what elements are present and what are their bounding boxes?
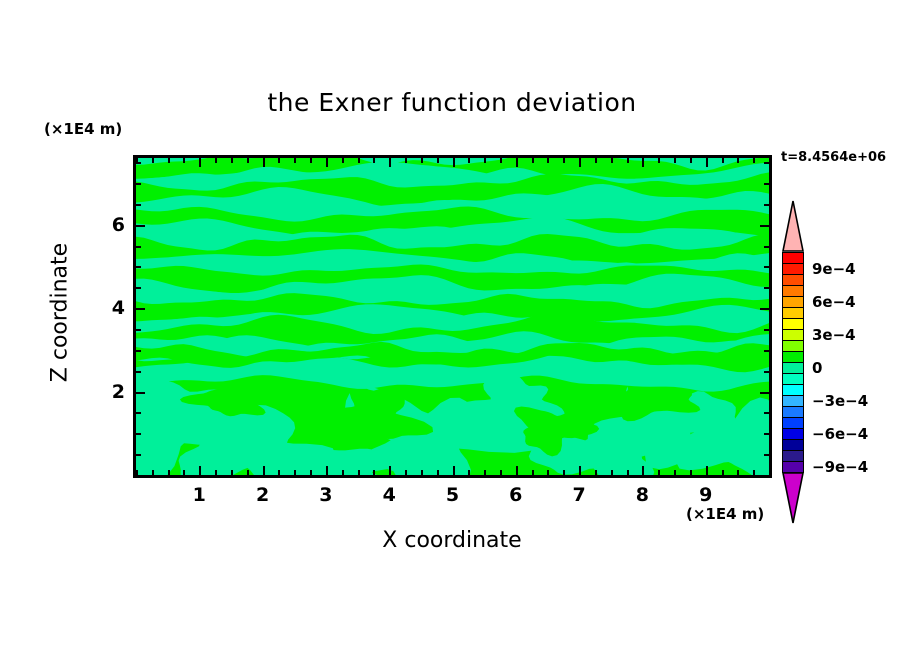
x-axis-units-label: (×1E4 m) — [686, 505, 764, 523]
colorbar[interactable] — [782, 252, 804, 472]
colorbar-tick-label: 9e−4 — [812, 260, 856, 278]
axis-tick — [760, 392, 769, 394]
x-tick-label: 9 — [699, 484, 712, 506]
axis-tick — [516, 158, 518, 167]
axis-tick — [136, 329, 141, 331]
axis-tick — [764, 162, 769, 164]
axis-tick — [136, 475, 141, 477]
x-tick-label: 8 — [636, 484, 649, 506]
axis-tick — [263, 466, 265, 475]
x-tick-label: 1 — [193, 484, 206, 506]
axis-tick — [278, 470, 280, 475]
axis-tick — [627, 158, 629, 163]
axis-tick — [136, 246, 141, 248]
axis-tick — [136, 266, 141, 268]
axis-tick — [437, 470, 439, 475]
colorbar-low-cap — [782, 472, 804, 524]
axis-tick — [722, 470, 724, 475]
axis-tick — [168, 470, 170, 475]
axis-tick — [136, 371, 141, 373]
axis-tick — [136, 225, 145, 227]
axis-tick — [342, 470, 344, 475]
axis-tick — [764, 329, 769, 331]
axis-tick — [642, 158, 644, 167]
axis-tick — [595, 470, 597, 475]
colorbar-tick-label: 0 — [812, 359, 822, 377]
axis-tick — [764, 183, 769, 185]
axis-tick — [231, 470, 233, 475]
axis-tick — [753, 158, 755, 163]
axis-tick — [136, 454, 141, 456]
axis-tick — [468, 158, 470, 163]
axis-tick — [764, 350, 769, 352]
axis-tick — [764, 246, 769, 248]
axis-tick — [183, 158, 185, 163]
axis-tick — [168, 158, 170, 163]
axis-tick — [342, 158, 344, 163]
x-tick-label: 3 — [319, 484, 332, 506]
axis-tick — [136, 183, 141, 185]
axis-tick — [563, 158, 565, 163]
axis-tick — [199, 158, 201, 167]
axis-tick — [722, 158, 724, 163]
axis-tick — [215, 158, 217, 163]
axis-tick — [389, 158, 391, 167]
axis-tick — [136, 412, 141, 414]
y-tick-label: 4 — [103, 297, 125, 319]
axis-tick — [764, 433, 769, 435]
axis-tick — [231, 158, 233, 163]
axis-tick — [294, 158, 296, 163]
axis-tick — [760, 225, 769, 227]
axis-tick — [484, 158, 486, 163]
axis-tick — [358, 470, 360, 475]
axis-tick — [706, 466, 708, 475]
x-tick-label: 2 — [256, 484, 269, 506]
y-axis-title: Z coordinate — [48, 213, 73, 413]
x-axis-title: X coordinate — [0, 528, 904, 553]
axis-tick — [516, 466, 518, 475]
x-tick-label: 6 — [509, 484, 522, 506]
colorbar-tick-label: −3e−4 — [812, 392, 868, 410]
axis-tick — [405, 158, 407, 163]
axis-tick — [753, 470, 755, 475]
axis-tick — [389, 466, 391, 475]
axis-tick — [247, 158, 249, 163]
axis-tick — [358, 158, 360, 163]
axis-tick — [500, 470, 502, 475]
axis-tick — [247, 470, 249, 475]
axis-tick — [690, 470, 692, 475]
axis-tick — [764, 475, 769, 477]
axis-tick — [152, 470, 154, 475]
axis-tick — [764, 454, 769, 456]
axis-tick — [373, 470, 375, 475]
axis-tick — [547, 470, 549, 475]
axis-tick — [152, 158, 154, 163]
colorbar-tick-label: 6e−4 — [812, 293, 856, 311]
axis-tick — [199, 466, 201, 475]
axis-tick — [136, 433, 141, 435]
axis-tick — [136, 162, 141, 164]
axis-tick — [326, 158, 328, 167]
x-tick-label: 5 — [446, 484, 459, 506]
axis-tick — [658, 158, 660, 163]
timestamp-label: t=8.4564e+06 — [781, 150, 886, 165]
axis-tick — [764, 371, 769, 373]
axis-tick — [642, 466, 644, 475]
axis-tick — [760, 308, 769, 310]
axis-tick — [310, 470, 312, 475]
axis-tick — [658, 470, 660, 475]
axis-tick — [310, 158, 312, 163]
axis-tick — [674, 470, 676, 475]
axis-tick — [532, 470, 534, 475]
axis-tick — [136, 287, 141, 289]
axis-tick — [136, 350, 141, 352]
axis-tick — [764, 266, 769, 268]
axis-tick — [737, 470, 739, 475]
axis-tick — [294, 470, 296, 475]
contour-plot-area[interactable] — [133, 155, 772, 478]
axis-tick — [595, 158, 597, 163]
y-axis-units-label: (×1E4 m) — [44, 120, 122, 138]
axis-tick — [563, 470, 565, 475]
axis-tick — [579, 466, 581, 475]
axis-tick — [421, 470, 423, 475]
axis-tick — [737, 158, 739, 163]
axis-tick — [468, 470, 470, 475]
axis-tick — [627, 470, 629, 475]
axis-tick — [611, 158, 613, 163]
x-tick-label: 7 — [572, 484, 585, 506]
page-title: the Exner function deviation — [0, 88, 904, 117]
colorbar-tick-label: 3e−4 — [812, 326, 856, 344]
axis-tick — [769, 470, 771, 475]
axis-tick — [453, 158, 455, 167]
axis-tick — [500, 158, 502, 163]
axis-tick — [484, 470, 486, 475]
axis-tick — [532, 158, 534, 163]
axis-tick — [453, 466, 455, 475]
axis-tick — [215, 470, 217, 475]
axis-tick — [421, 158, 423, 163]
axis-tick — [278, 158, 280, 163]
y-tick-label: 2 — [103, 381, 125, 403]
x-tick-label: 4 — [383, 484, 396, 506]
axis-tick — [764, 287, 769, 289]
axis-tick — [326, 466, 328, 475]
axis-tick — [706, 158, 708, 167]
axis-tick — [405, 470, 407, 475]
axis-tick — [690, 158, 692, 163]
axis-tick — [136, 392, 145, 394]
axis-tick — [136, 204, 141, 206]
axis-tick — [263, 158, 265, 167]
axis-tick — [373, 158, 375, 163]
contour-field — [136, 158, 769, 475]
axis-tick — [437, 158, 439, 163]
axis-tick — [769, 158, 771, 163]
colorbar-high-cap — [782, 200, 804, 252]
axis-tick — [183, 470, 185, 475]
axis-tick — [611, 470, 613, 475]
axis-tick — [764, 204, 769, 206]
colorbar-tick-label: −6e−4 — [812, 425, 868, 443]
axis-tick — [136, 308, 145, 310]
axis-tick — [547, 158, 549, 163]
axis-tick — [674, 158, 676, 163]
colorbar-tick-label: −9e−4 — [812, 458, 868, 476]
axis-tick — [764, 412, 769, 414]
axis-tick — [579, 158, 581, 167]
y-tick-label: 6 — [103, 214, 125, 236]
